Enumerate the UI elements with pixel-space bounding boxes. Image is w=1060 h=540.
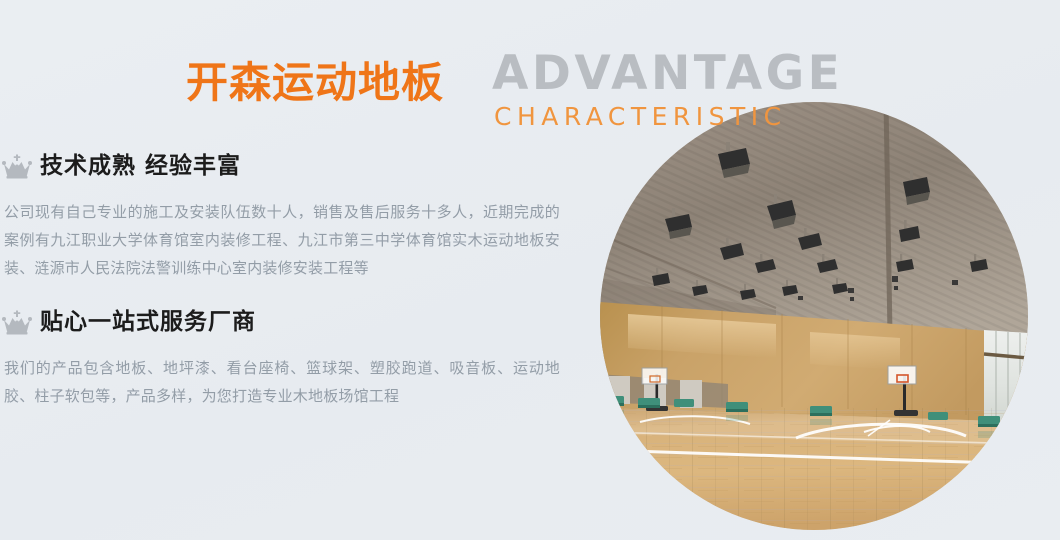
heading-title-chinese: 开森运动地板 bbox=[186, 62, 444, 104]
advantage-item-2: 贴心一站式服务厂商 我们的产品包含地板、地坪漆、看台座椅、篮球架、塑胶跑道、吸音… bbox=[0, 306, 585, 410]
basketball-gymnasium-photo bbox=[600, 102, 1028, 530]
advantage-item-1-body: 公司现有自己专业的施工及安装队伍数十人，销售及售后服务十多人，近期完成的案例有九… bbox=[0, 198, 560, 282]
advantage-item-2-body: 我们的产品包含地板、地坪漆、看台座椅、篮球架、塑胶跑道、吸音板、运动地胶、柱子软… bbox=[0, 354, 560, 410]
advantage-list: 技术成熟 经验丰富 公司现有自己专业的施工及安装队伍数十人，销售及售后服务十多人… bbox=[0, 150, 585, 410]
advantage-item-1: 技术成熟 经验丰富 公司现有自己专业的施工及安装队伍数十人，销售及售后服务十多人… bbox=[0, 150, 585, 282]
heading-title-english: ADVANTAGE bbox=[492, 50, 843, 97]
advantage-item-2-title: 贴心一站式服务厂商 bbox=[40, 310, 256, 335]
advantage-item-1-title: 技术成熟 经验丰富 bbox=[40, 154, 241, 179]
advantage-item-1-header: 技术成熟 经验丰富 bbox=[0, 150, 585, 184]
advantage-item-2-header: 贴心一站式服务厂商 bbox=[0, 306, 585, 340]
crown-icon bbox=[2, 310, 32, 336]
crown-icon bbox=[2, 154, 32, 180]
banner-heading: ADVANTAGE CHARACTERISTIC 开森运动地板 bbox=[0, 26, 1060, 116]
banner-stage: ADVANTAGE CHARACTERISTIC 开森运动地板 bbox=[0, 0, 1060, 540]
